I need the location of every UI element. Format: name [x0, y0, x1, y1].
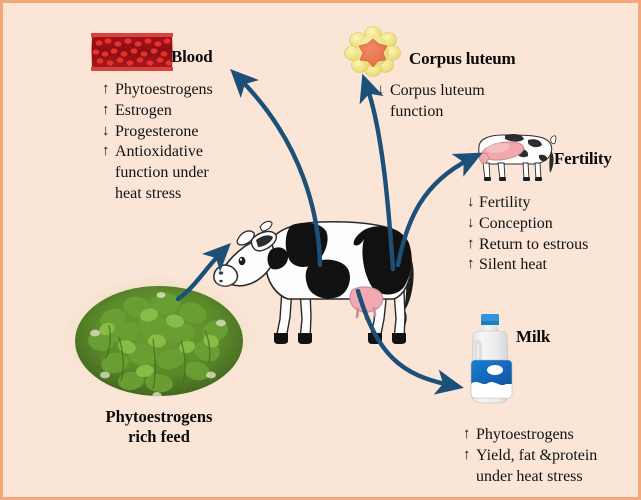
- list-item: ↑Antioxidative: [102, 142, 252, 162]
- list-item-label: under heat stress: [476, 467, 638, 487]
- list-item: ↑Yield, fat &protein: [463, 446, 638, 466]
- list-item-label: Phytoestrogens: [115, 80, 252, 100]
- trend-mark: ↑: [102, 101, 115, 120]
- milk-bottle-icon: [462, 314, 516, 408]
- trend-mark: ↑: [467, 255, 479, 274]
- trend-mark: ↓: [467, 214, 479, 233]
- trend-mark: ↑: [463, 425, 476, 444]
- trend-mark: ↑: [463, 446, 476, 465]
- list-item-label: Conception: [479, 214, 632, 234]
- list-item: ↑Estrogen: [102, 101, 252, 121]
- feed-caption-line2: rich feed: [128, 427, 190, 446]
- dairy-cow-icon: [208, 199, 423, 354]
- trend-mark: ↑: [102, 80, 115, 99]
- phytoestrogen-effects-diagram: Blood ↑Phytoestrogens ↑Estrogen ↓Progest…: [0, 0, 641, 500]
- list-item-label: Yield, fat &protein: [476, 446, 638, 466]
- list-item-label: Fertility: [479, 193, 632, 213]
- list-item-label: function: [390, 102, 537, 122]
- corpus-luteum-flower-icon: [344, 25, 402, 77]
- list-item: ↑Phytoestrogens: [463, 425, 638, 445]
- fertility-effect-list: ↓Fertility ↓Conception ↑Return to estrou…: [467, 193, 632, 276]
- fertility-heading: Fertility: [554, 149, 612, 169]
- list-item: ↑Return to estrous: [467, 235, 632, 255]
- list-item-label: Return to estrous: [479, 235, 632, 255]
- trend-mark: ↓: [467, 193, 479, 212]
- cow-reproductive-tract-icon: [465, 127, 557, 189]
- list-item: ↓Corpus luteum: [377, 81, 537, 101]
- list-item: function under: [102, 163, 252, 183]
- blood-vessel-icon: [91, 32, 173, 72]
- list-item: under heat stress: [463, 467, 638, 487]
- list-item-label: Antioxidative: [115, 142, 252, 162]
- list-item-label: Silent heat: [479, 255, 632, 275]
- trend-mark: ↑: [467, 235, 479, 254]
- list-item-label: Phytoestrogens: [476, 425, 638, 445]
- list-item-label: Estrogen: [115, 101, 252, 121]
- blood-effect-list: ↑Phytoestrogens ↑Estrogen ↓Progesterone …: [102, 80, 252, 205]
- corpus-luteum-heading: Corpus luteum: [409, 49, 516, 69]
- corpus-luteum-effect-list: ↓Corpus luteum function: [377, 81, 537, 123]
- blood-heading: Blood: [171, 47, 213, 67]
- feed-caption: Phytoestrogens rich feed: [61, 407, 257, 447]
- list-item: ↑Phytoestrogens: [102, 80, 252, 100]
- list-item: ↑Silent heat: [467, 255, 632, 275]
- trend-mark: ↓: [377, 81, 390, 100]
- milk-effect-list: ↑Phytoestrogens ↑Yield, fat &protein und…: [463, 425, 638, 487]
- list-item: ↓Progesterone: [102, 122, 252, 142]
- list-item: ↓Conception: [467, 214, 632, 234]
- list-item-label: function under: [115, 163, 252, 183]
- list-item: function: [377, 102, 537, 122]
- trend-mark: ↓: [102, 122, 115, 141]
- trend-mark: ↑: [102, 142, 115, 161]
- list-item-label: Progesterone: [115, 122, 252, 142]
- feed-caption-line1: Phytoestrogens: [106, 407, 213, 426]
- milk-heading: Milk: [516, 327, 550, 347]
- list-item: ↓Fertility: [467, 193, 632, 213]
- list-item-label: Corpus luteum: [390, 81, 537, 101]
